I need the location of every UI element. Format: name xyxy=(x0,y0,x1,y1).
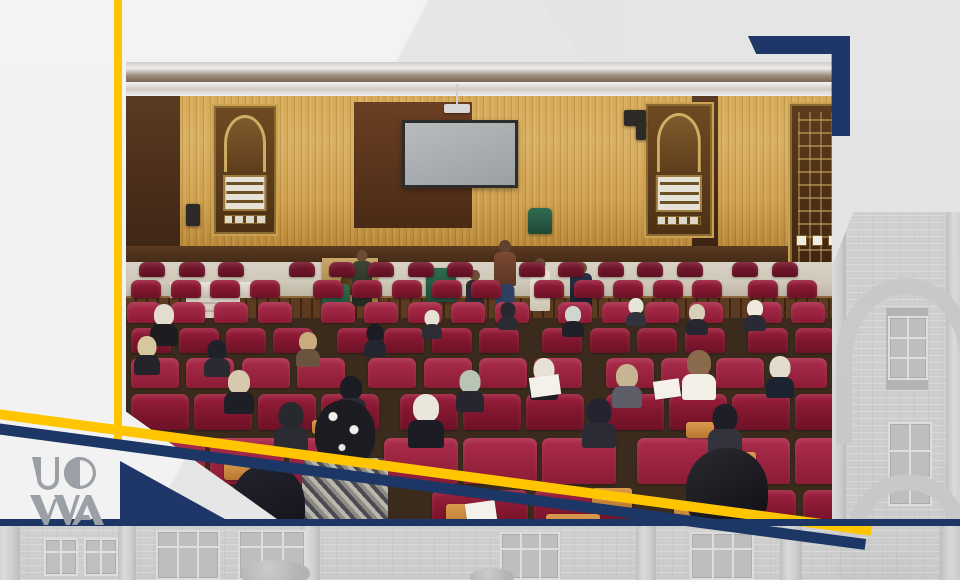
wall-speaker xyxy=(636,122,646,140)
student xyxy=(582,398,616,446)
student xyxy=(682,350,716,398)
ceiling-projector xyxy=(444,104,470,113)
uowa-logo[interactable] xyxy=(28,455,104,529)
student xyxy=(744,300,766,328)
facade-window xyxy=(44,538,78,576)
panel-plaque xyxy=(223,175,266,211)
facade-shrub xyxy=(240,560,310,580)
panel-dome-motif xyxy=(657,113,701,171)
facade-window xyxy=(156,530,220,580)
student xyxy=(422,310,442,337)
panel-dome-motif xyxy=(224,115,266,172)
panel-plaque xyxy=(656,175,702,212)
facade-window xyxy=(888,316,928,380)
projector-mount-rod xyxy=(456,84,458,104)
student xyxy=(626,298,646,324)
student xyxy=(708,404,742,452)
lecture-hall-photo xyxy=(126,62,832,522)
stage-chair xyxy=(528,208,552,234)
student xyxy=(498,302,518,328)
exam-paper xyxy=(529,374,561,398)
facade-shrub xyxy=(470,568,514,580)
facade-window xyxy=(84,538,118,576)
hall-ceiling-band xyxy=(126,82,832,90)
panel-box-row xyxy=(224,215,266,224)
student xyxy=(224,370,254,412)
student xyxy=(612,364,642,406)
calligraphy-panel-left xyxy=(212,104,278,236)
student xyxy=(686,304,708,332)
exam-paper xyxy=(653,378,681,399)
hall-wall-dark-left xyxy=(126,96,180,246)
student xyxy=(134,336,160,372)
student xyxy=(296,332,320,364)
hall-ceiling xyxy=(126,62,832,96)
student xyxy=(204,340,230,374)
building-watermark-bottom xyxy=(0,522,960,580)
yellow-accent-rail xyxy=(114,0,122,440)
student xyxy=(766,356,794,396)
wall-speaker xyxy=(186,204,200,226)
photo-content xyxy=(126,62,832,522)
calligraphy-panel-right-2 xyxy=(788,102,832,274)
panel-box-row xyxy=(657,216,702,225)
navy-horizontal-rule xyxy=(0,519,960,526)
projection-screen xyxy=(402,120,518,188)
student xyxy=(456,370,484,410)
calligraphy-panel-right-1 xyxy=(644,102,714,238)
student xyxy=(408,394,444,446)
facade-brick xyxy=(0,522,960,580)
student xyxy=(364,324,386,354)
facade-window xyxy=(690,532,754,580)
student xyxy=(562,306,584,334)
banner-canvas xyxy=(0,0,960,580)
